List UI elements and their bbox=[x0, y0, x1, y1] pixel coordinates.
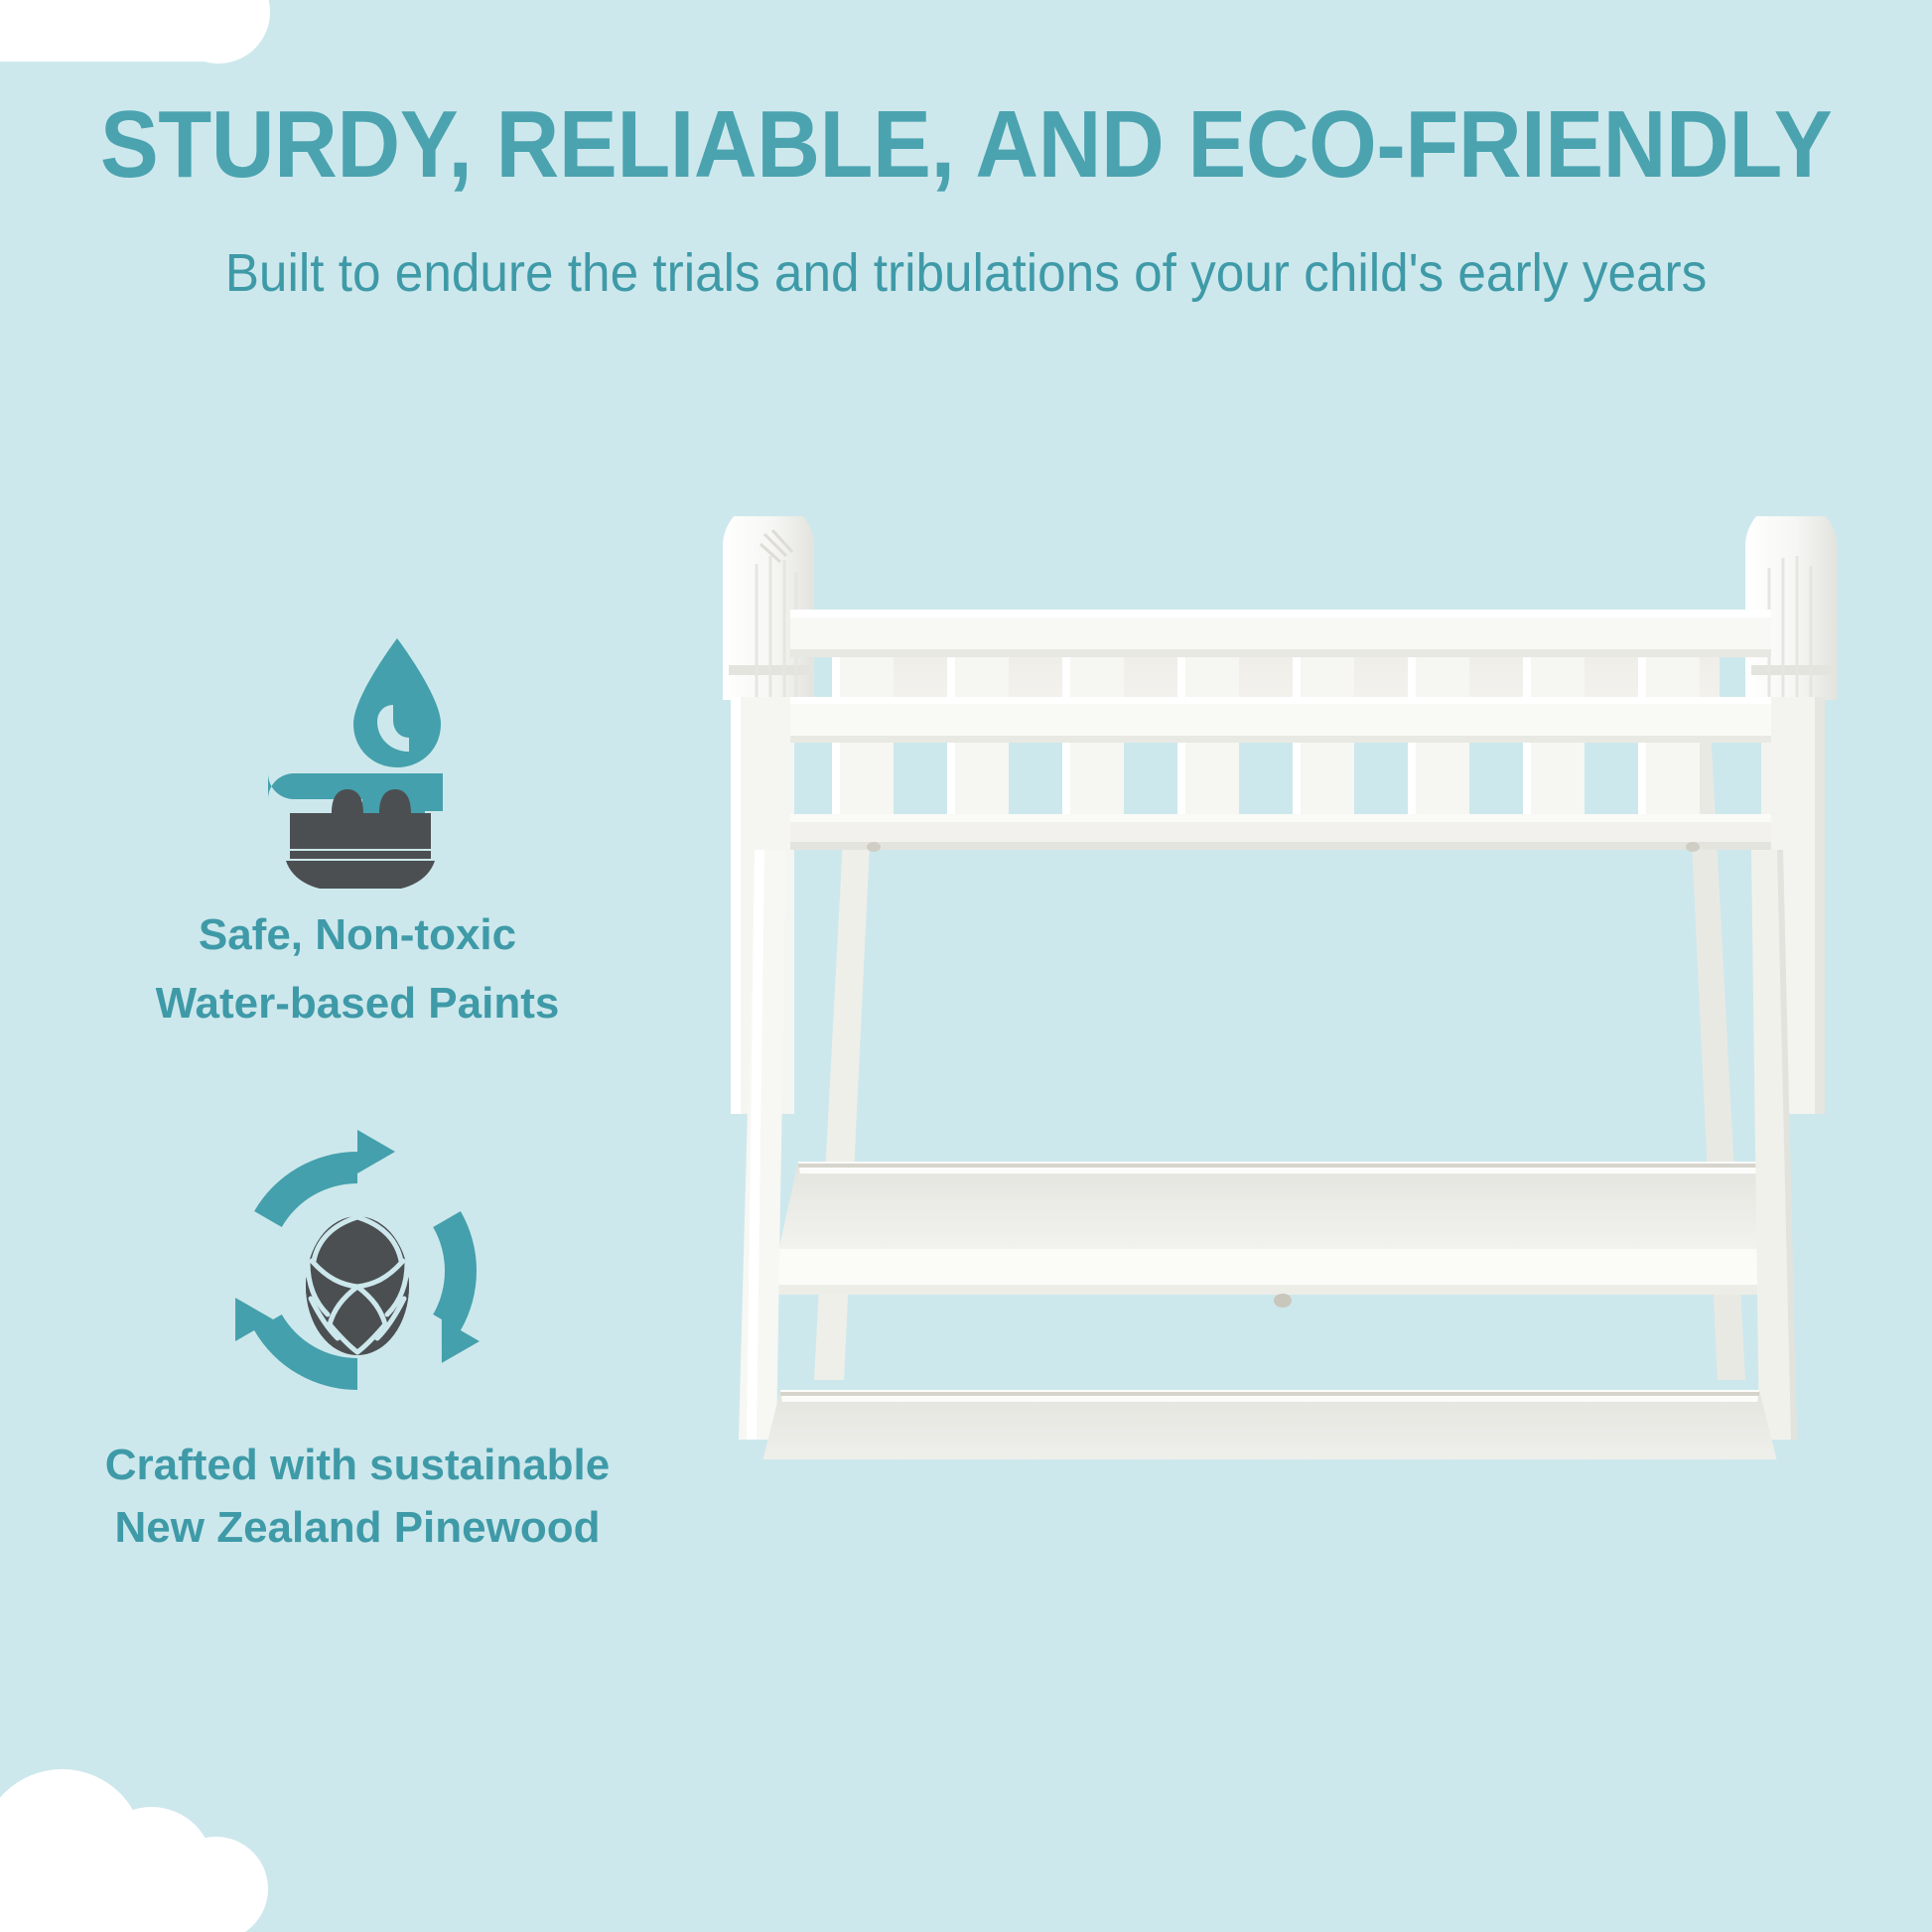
feature-caption-line-2: New Zealand Pinewood bbox=[20, 1500, 695, 1555]
feature-caption-line-1: Crafted with sustainable bbox=[20, 1438, 695, 1492]
feature-safe-paints: Safe, Non-toxic Water-based Paints bbox=[40, 596, 675, 1031]
infographic-canvas: STURDY, RELIABLE, AND ECO-FRIENDLY Built… bbox=[0, 0, 1932, 1932]
recycle-pinecone-icon bbox=[20, 1112, 695, 1430]
feature-sustainable-pinewood: Crafted with sustainable New Zealand Pin… bbox=[20, 1112, 695, 1555]
product-image-changing-table bbox=[695, 516, 1866, 1459]
page-headline: STURDY, RELIABLE, AND ECO-FRIENDLY bbox=[77, 95, 1855, 195]
cloud-icon-bottom-left bbox=[0, 1769, 288, 1932]
cloud-icon-top-left bbox=[0, 0, 258, 81]
page-subheadline: Built to endure the trials and tribulati… bbox=[49, 244, 1884, 302]
feature-caption-line-2: Water-based Paints bbox=[40, 976, 675, 1031]
paint-brush-water-drop-icon bbox=[40, 596, 675, 894]
feature-caption-line-1: Safe, Non-toxic bbox=[40, 907, 675, 962]
